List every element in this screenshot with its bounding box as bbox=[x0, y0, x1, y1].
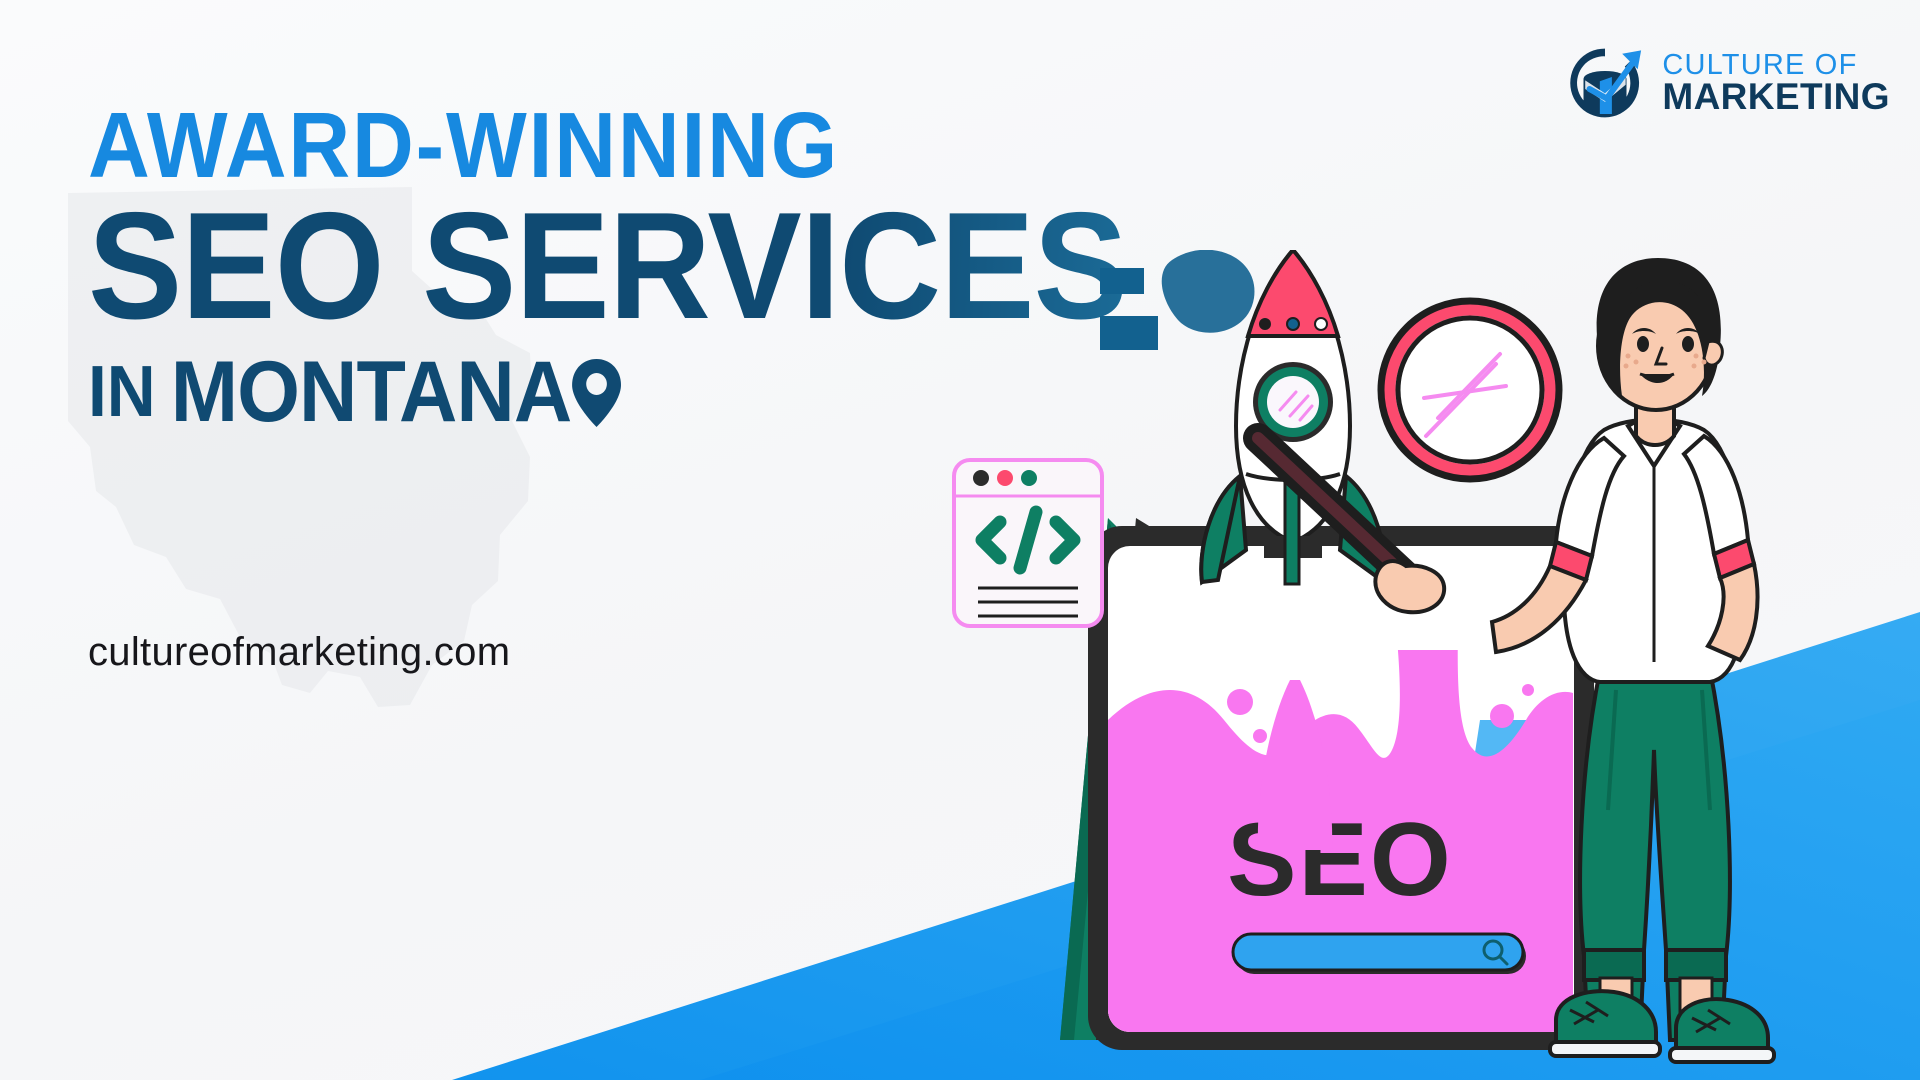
window-dot-1 bbox=[973, 470, 989, 486]
brand-logo[interactable]: CULTURE OF MARKETING bbox=[1562, 40, 1890, 126]
logo-wordmark: CULTURE OF MARKETING bbox=[1662, 52, 1890, 115]
bar-chart-growth-arrow-icon bbox=[1562, 40, 1648, 126]
window-dot-3 bbox=[1021, 470, 1037, 486]
website-url[interactable]: cultureofmarketing.com bbox=[88, 630, 510, 675]
search-bar[interactable] bbox=[1233, 934, 1526, 974]
decorative-blobs bbox=[1100, 250, 1254, 350]
subline-location: MONTANA bbox=[171, 349, 572, 435]
logo-line-2: MARKETING bbox=[1662, 79, 1890, 114]
shoe-right bbox=[1670, 999, 1774, 1062]
map-pin-icon bbox=[568, 357, 626, 429]
subline-prefix: IN bbox=[88, 356, 156, 428]
code-window-card bbox=[954, 460, 1102, 626]
logo-line-1: CULTURE OF bbox=[1662, 52, 1890, 80]
kicker-text: AWARD-WINNING bbox=[88, 100, 1116, 191]
window-dot-2 bbox=[997, 470, 1013, 486]
banner-canvas: CULTURE OF MARKETING AWARD-WINNING SEO S… bbox=[0, 0, 1920, 1080]
hero-illustration: SEO bbox=[940, 250, 1920, 1080]
